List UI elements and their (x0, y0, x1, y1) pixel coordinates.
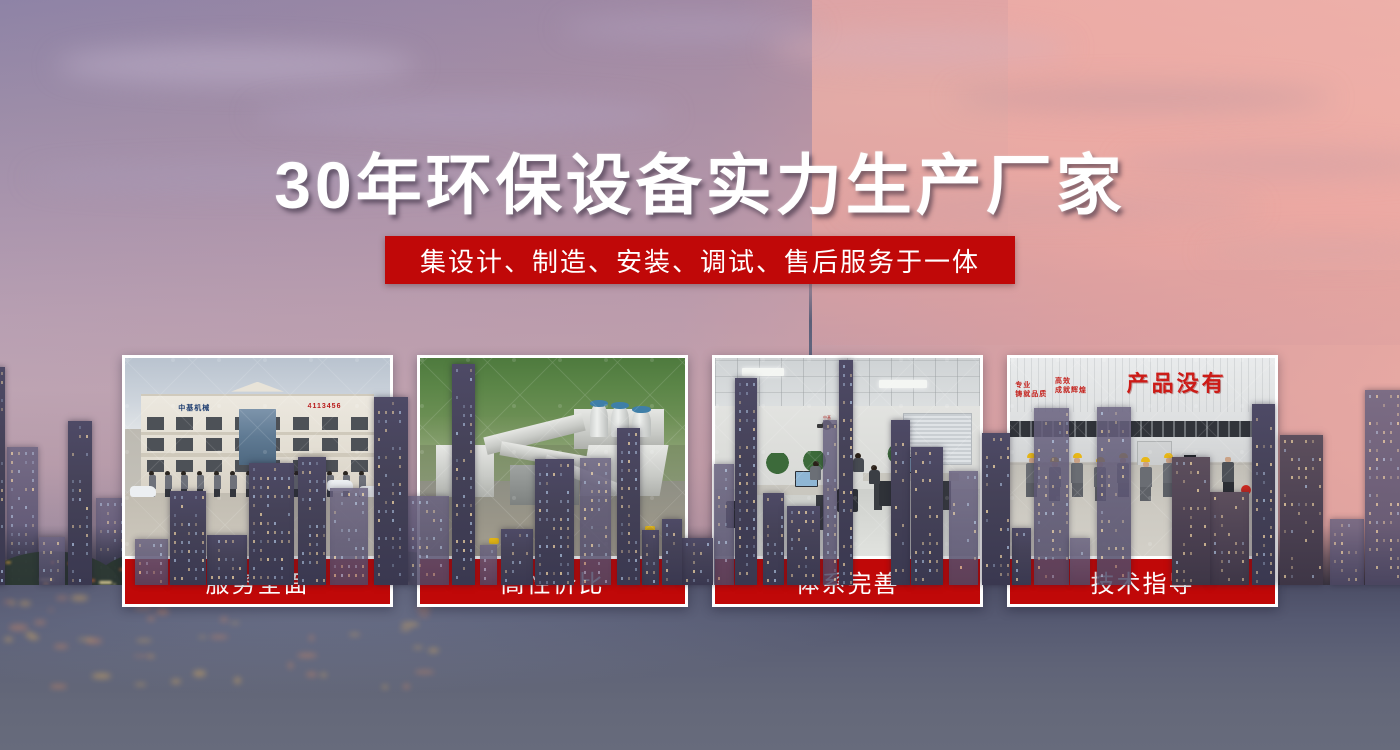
building-sign-text: 中基机械 (178, 403, 210, 413)
subtitle-banner: 集设计、制造、安装、调试、售后服务于一体 (385, 236, 1015, 284)
page-title: 30年环保设备实力生产厂家 (0, 132, 1400, 228)
subtitle-text: 集设计、制造、安装、调试、售后服务于一体 (420, 242, 980, 279)
building-phone-text: 4113456 (308, 403, 342, 410)
factory-sign-text: 产品没有 (1127, 366, 1227, 398)
hero-banner: 30年环保设备实力生产厂家 集设计、制造、安装、调试、售后服务于一体 中基机械 … (0, 0, 1400, 750)
water-sheen (0, 585, 1400, 750)
factory-slogan-2: 高效成就辉煌 (1055, 378, 1087, 396)
factory-slogan-1: 专业铸就品质 (1015, 382, 1047, 400)
